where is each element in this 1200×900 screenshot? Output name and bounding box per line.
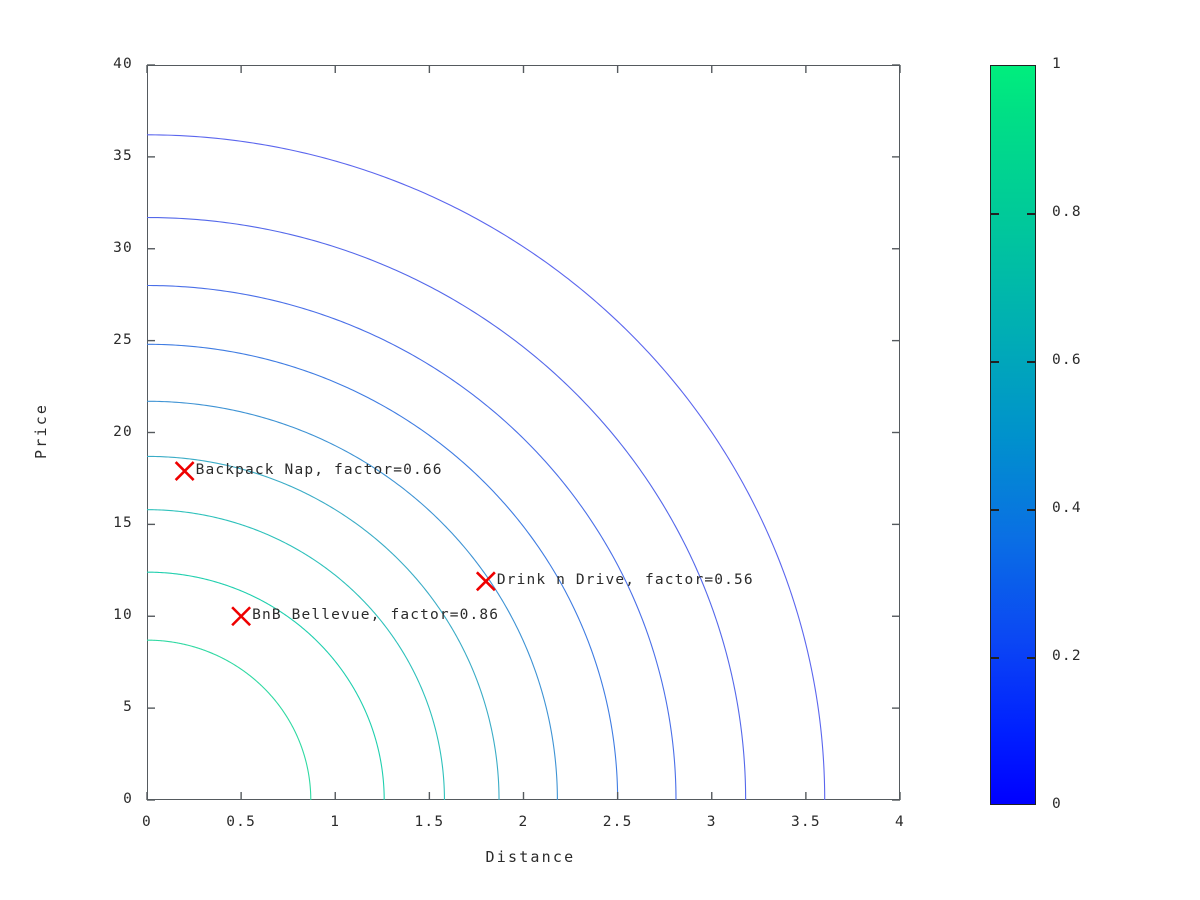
x-axis-title: Distance [486, 848, 576, 866]
colorbar-tickmark [1027, 361, 1036, 363]
x-tick-label: 2 [484, 814, 564, 830]
colorbar-tickmark [990, 213, 999, 215]
y-tick-label: 25 [55, 332, 133, 348]
contour-line-0.5 [147, 401, 557, 800]
contour-line-0.7 [147, 510, 444, 800]
y-tick-label: 30 [55, 240, 133, 256]
colorbar-tick-label: 0.4 [1052, 500, 1082, 516]
y-tick-label: 20 [55, 424, 133, 440]
x-marker[interactable] [232, 607, 250, 625]
colorbar-tickmark [1027, 213, 1036, 215]
x-tick-label: 0 [107, 814, 187, 830]
marker-label: BnB Bellevue, factor=0.86 [252, 607, 499, 623]
marker-label: Drink n Drive, factor=0.56 [497, 572, 754, 588]
marker-label: Backpack Nap, factor=0.66 [196, 462, 443, 478]
colorbar-tick-label: 0.2 [1052, 648, 1082, 664]
x-tick-label: 0.5 [201, 814, 281, 830]
x-marker[interactable] [176, 462, 194, 480]
colorbar-tickmark [990, 509, 999, 511]
colorbar-tickmark [990, 361, 999, 363]
y-tick-label: 5 [55, 699, 133, 715]
y-tick-label: 40 [55, 56, 133, 72]
x-tick-label: 3.5 [766, 814, 846, 830]
contour-line-0.9 [147, 640, 311, 800]
x-tick-label: 1.5 [389, 814, 469, 830]
contour-line-0.3 [147, 286, 676, 801]
colorbar-tick-label: 0 [1052, 796, 1062, 812]
y-tick-label: 10 [55, 607, 133, 623]
colorbar-tickmark [1027, 657, 1036, 659]
contour-line-0.6 [147, 456, 499, 800]
y-tick-label: 0 [55, 791, 133, 807]
y-tick-label: 35 [55, 148, 133, 164]
y-axis-title: Price [32, 402, 50, 458]
x-tick-label: 2.5 [578, 814, 658, 830]
colorbar [990, 65, 1036, 805]
colorbar-tick-label: 0.8 [1052, 204, 1082, 220]
colorbar-tickmark [1027, 509, 1036, 511]
x-tick-label: 3 [672, 814, 752, 830]
contour-line-0.2 [147, 218, 746, 800]
point-markers-group [176, 462, 495, 625]
x-tick-label: 4 [860, 814, 940, 830]
y-tick-label: 15 [55, 515, 133, 531]
x-tick-label: 1 [295, 814, 375, 830]
axis-tickmarks-group [147, 65, 900, 800]
colorbar-tickmark [990, 657, 999, 659]
colorbar-tick-label: 1 [1052, 56, 1062, 72]
contour-plot-figure: 00.511.522.533.540510152025303540Backpac… [0, 0, 1200, 900]
colorbar-tick-label: 0.6 [1052, 352, 1082, 368]
